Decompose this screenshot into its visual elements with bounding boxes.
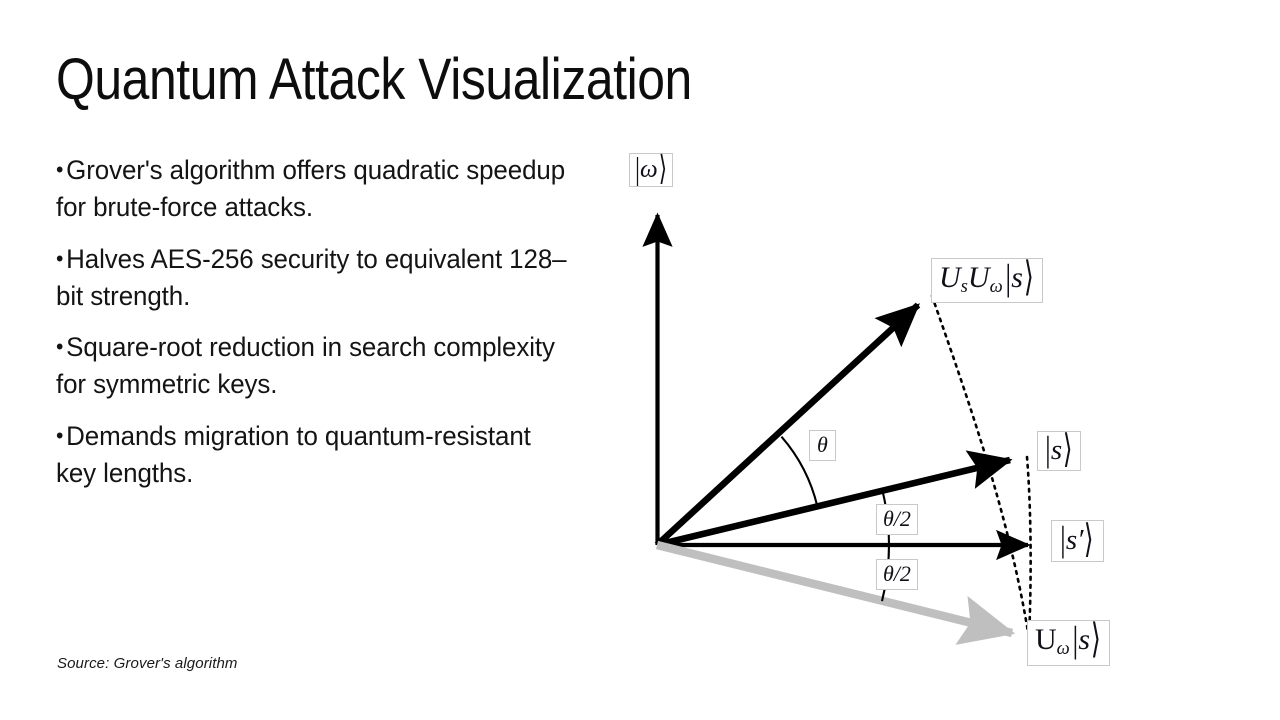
ket-angle: ⟩ bbox=[1063, 431, 1073, 470]
ket-bar: | bbox=[1072, 621, 1078, 659]
state-symbol: s bbox=[1051, 434, 1062, 466]
bullet-marker-icon: • bbox=[56, 246, 66, 271]
page-title: Quantum Attack Visualization bbox=[56, 50, 830, 111]
ket-angle: ⟩ bbox=[1084, 521, 1094, 560]
bullet-marker-icon: • bbox=[56, 334, 66, 359]
operator-uw: U bbox=[1035, 623, 1057, 656]
axis-label-s-prime-ket: |s′⟩ bbox=[1051, 520, 1104, 562]
bullet-list: •Grover's algorithm offers quadratic spe… bbox=[56, 152, 596, 506]
bullet-marker-icon: • bbox=[56, 157, 66, 182]
bullet-text: Demands migration to quantum-resistant k… bbox=[56, 421, 531, 488]
ket-bar: | bbox=[635, 154, 640, 185]
bullet-marker-icon: • bbox=[56, 423, 66, 448]
dotted-arc-s-to-uws bbox=[1027, 457, 1031, 640]
vector-label-us-uw-s-ket: UsUω |s⟩ bbox=[931, 258, 1043, 303]
operator-uw: U bbox=[968, 261, 990, 294]
operator-us: U bbox=[939, 261, 961, 294]
list-item: •Halves AES-256 security to equivalent 1… bbox=[56, 241, 574, 316]
state-symbol: s bbox=[1078, 623, 1090, 656]
ket-angle: ⟩ bbox=[1024, 258, 1034, 299]
angle-label-theta: θ bbox=[809, 430, 836, 461]
angle-label-theta-half-upper: θ/2 bbox=[876, 504, 918, 535]
axis-label-omega-ket: |ω⟩ bbox=[629, 153, 673, 187]
bullet-text: Halves AES-256 security to equivalent 12… bbox=[56, 244, 566, 311]
operator-uw-subscript: ω bbox=[990, 276, 1003, 297]
ket-angle: ⟩ bbox=[1091, 620, 1101, 661]
grover-rotation-diagram: |ω⟩ UsUω |s⟩ |s⟩ |s′⟩ Uω |s⟩ θ θ/2 θ/2 bbox=[600, 120, 1200, 700]
vector-label-s-ket: |s⟩ bbox=[1037, 431, 1081, 471]
s-vector bbox=[657, 460, 1010, 545]
ket-bar: | bbox=[1060, 522, 1066, 558]
operator-uw-subscript: ω bbox=[1057, 638, 1070, 659]
list-item: •Demands migration to quantum-resistant … bbox=[56, 418, 574, 493]
ket-angle: ⟩ bbox=[658, 153, 666, 187]
ket-bar: | bbox=[1005, 259, 1011, 297]
uw-s-vector bbox=[657, 545, 1012, 633]
diagram-canvas bbox=[600, 120, 1200, 700]
bullet-text: Grover's algorithm offers quadratic spee… bbox=[56, 155, 565, 222]
bullet-text: Square-root reduction in search complexi… bbox=[56, 332, 555, 399]
state-symbol: s bbox=[1011, 261, 1023, 294]
list-item: •Grover's algorithm offers quadratic spe… bbox=[56, 152, 574, 227]
operator-us-subscript: s bbox=[961, 276, 968, 297]
vector-label-uw-s-ket: Uω |s⟩ bbox=[1027, 620, 1110, 666]
ket-bar: | bbox=[1045, 432, 1051, 468]
source-caption: Source: Grover's algorithm bbox=[57, 655, 238, 672]
angle-label-theta-half-lower: θ/2 bbox=[876, 559, 918, 590]
omega-symbol: ω bbox=[640, 156, 658, 183]
state-symbol: s′ bbox=[1066, 524, 1084, 556]
list-item: •Square-root reduction in search complex… bbox=[56, 329, 574, 404]
